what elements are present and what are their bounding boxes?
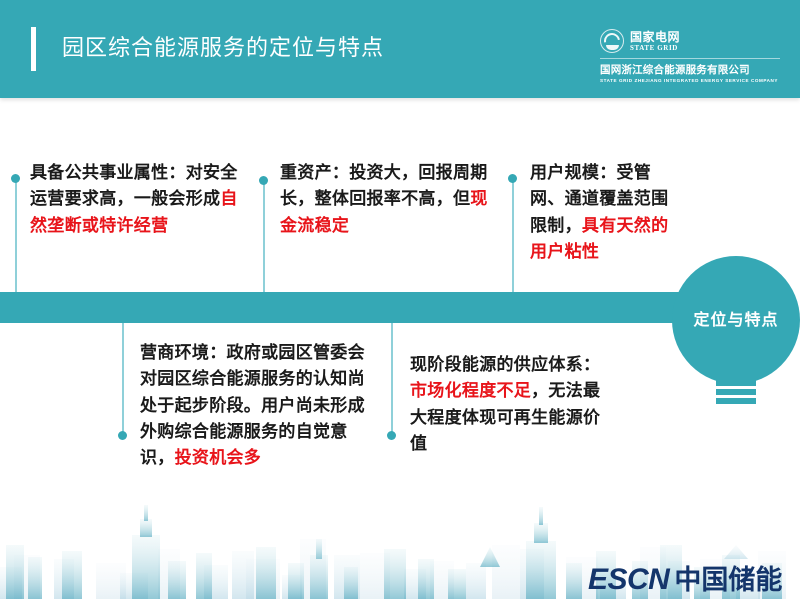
escn-watermark: ESCN 中国储能网 — [588, 558, 800, 599]
text-block-user-scale: 用户规模：受管网、通道覆盖范围限制，具有天然的用户粘性 — [530, 160, 680, 265]
divider-dot-4 — [118, 431, 127, 440]
logo-names: 国家电网 STATE GRID — [630, 31, 680, 52]
divider-dot-3 — [508, 174, 517, 183]
logo-name-cn: 国家电网 — [630, 31, 680, 43]
divider-line-3 — [512, 178, 514, 292]
logo-name-en: STATE GRID — [630, 45, 680, 52]
lightbulb-base-ring-2 — [716, 389, 756, 395]
state-grid-emblem-icon — [600, 29, 624, 53]
watermark-brand-cn: 中国储能网 — [674, 558, 800, 599]
text-run: 一般会形成 — [134, 189, 221, 208]
text-run: 具备公共事业属性： — [30, 163, 186, 182]
text-block-energy-supply-system: 现阶段能源的供应体系：市场化程度不足，无法最大程度体现可再生能源价值 — [410, 352, 614, 457]
divider-dot-5 — [387, 431, 396, 440]
divider-line-5 — [391, 323, 393, 436]
divider-line-2 — [263, 180, 265, 292]
lightbulb-base-ring-3 — [716, 398, 756, 404]
lightbulb-graphic: 定位与特点 — [672, 256, 800, 401]
divider-line-4 — [122, 323, 124, 436]
logo-primary-row: 国家电网 STATE GRID — [600, 28, 780, 54]
slide-root: 园区综合能源服务的定位与特点 国家电网 STATE GRID 国网浙江综合能源服… — [0, 0, 800, 599]
mid-accent-band — [0, 292, 690, 323]
highlight-run: 市场化程度不足 — [410, 381, 531, 400]
text-block-public-utility: 具备公共事业属性：对安全运营要求高，一般会形成自然垄断或特许经营 — [30, 160, 252, 239]
page-title: 园区综合能源服务的定位与特点 — [62, 30, 384, 62]
logo-divider — [600, 58, 780, 59]
state-grid-logo: 国家电网 STATE GRID 国网浙江综合能源服务有限公司 STATE GRI… — [600, 28, 780, 76]
text-run: 现阶段能源的供应体系： — [410, 355, 600, 374]
logo-subsidiary-cn: 国网浙江综合能源服务有限公司 — [600, 62, 780, 77]
text-block-heavy-asset: 重资产：投资大，回报周期长，整体回报率不高，但现金流稳定 — [280, 160, 492, 239]
divider-dot-1 — [11, 174, 20, 183]
highlight-run: 投资机会多 — [175, 448, 262, 467]
watermark-brand-en: ESCN — [588, 563, 669, 597]
logo-subsidiary-en: STATE GRID ZHEJIANG INTEGRATED ENERGY SE… — [600, 78, 780, 83]
lightbulb-label: 定位与特点 — [672, 306, 800, 330]
text-block-business-environment: 营商环境：政府或园区管委会对园区综合能源服务的认知尚处于起步阶段。用户尚未形成外… — [140, 340, 380, 472]
lightbulb-base-ring-1 — [716, 380, 756, 386]
divider-dot-2 — [259, 176, 268, 185]
divider-line-1 — [15, 178, 17, 292]
slide-header: 园区综合能源服务的定位与特点 国家电网 STATE GRID 国网浙江综合能源服… — [0, 0, 800, 98]
header-accent-bar — [31, 27, 36, 71]
text-run: 重资产：投资大，回报周期长，整体回报率不高，但 — [280, 163, 488, 208]
lightbulb-neck — [716, 366, 756, 380]
